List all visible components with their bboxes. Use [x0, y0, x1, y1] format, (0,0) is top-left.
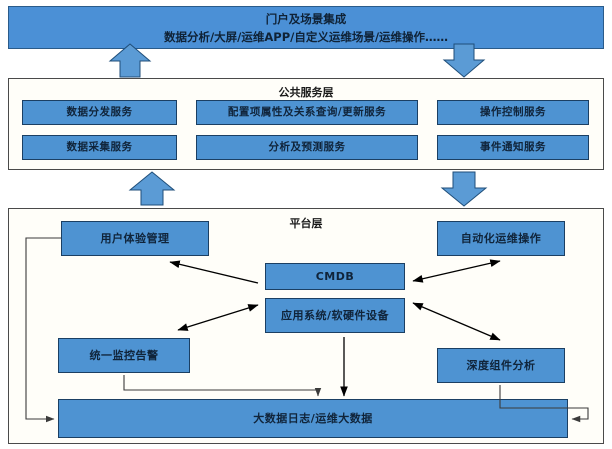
portal-subtitle: 数据分析/大屏/运维APP/自定义运维场景/运维操作…… — [164, 29, 448, 45]
public-service-layer-title: 公共服务层 — [9, 84, 603, 100]
architecture-diagram: 门户及场景集成 数据分析/大屏/运维APP/自定义运维场景/运维操作…… 公共服… — [0, 0, 612, 449]
portal-title: 门户及场景集成 — [266, 11, 347, 27]
platform-box-big-data[interactable]: 大数据日志/运维大数据 — [58, 399, 568, 438]
service-down-block-arrow — [442, 172, 486, 206]
service-box-data-collection[interactable]: 数据采集服务 — [22, 135, 177, 160]
platform-box-deep-component[interactable]: 深度组件分析 — [437, 348, 565, 383]
service-box-data-distribution[interactable]: 数据分发服务 — [22, 100, 177, 125]
service-box-analysis-prediction[interactable]: 分析及预测服务 — [196, 135, 418, 160]
service-box-operation-control[interactable]: 操作控制服务 — [437, 100, 589, 125]
platform-box-cmdb[interactable]: CMDB — [265, 263, 405, 290]
platform-box-app-system[interactable]: 应用系统/软硬件设备 — [265, 298, 405, 333]
service-box-ci-attribute-query[interactable]: 配置项属性及关系查询/更新服务 — [196, 100, 418, 125]
platform-box-user-experience[interactable]: 用户体验管理 — [61, 221, 209, 256]
service-box-event-notification[interactable]: 事件通知服务 — [437, 135, 589, 160]
service-up-block-arrow — [130, 172, 174, 205]
portal-banner: 门户及场景集成 数据分析/大屏/运维APP/自定义运维场景/运维操作…… — [8, 6, 604, 49]
platform-box-automation-ops[interactable]: 自动化运维操作 — [437, 221, 565, 256]
platform-box-unified-monitor[interactable]: 统一监控告警 — [58, 338, 190, 373]
